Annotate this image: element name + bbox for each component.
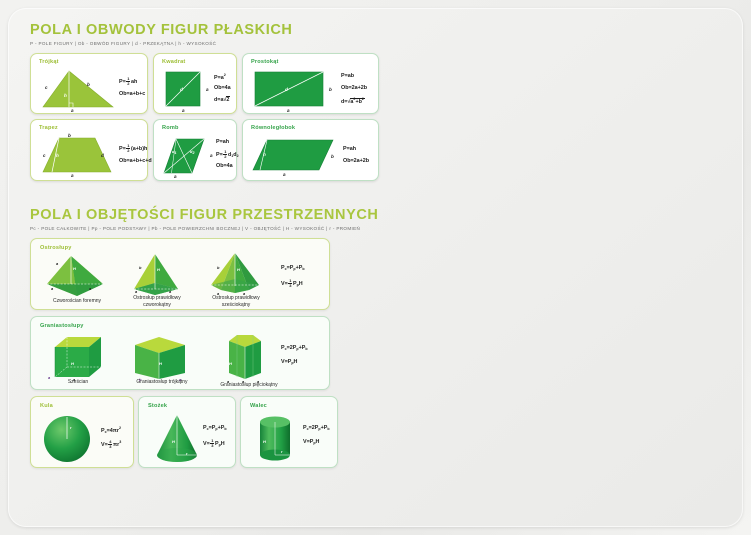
- label-stozek-r: r: [186, 451, 188, 456]
- label-trapez-b: b: [68, 133, 71, 138]
- formula-walec-v: V=PpH: [303, 439, 319, 445]
- caption-graniastoslup-trojkatny: Graniastosłup trójkątny: [123, 379, 201, 386]
- card-romb[interactable]: Romb d1 d2 a a P=ah P=12d1d2: [153, 119, 237, 181]
- card-title-trapez: Trapez: [39, 125, 58, 131]
- figure-cone: [153, 413, 201, 465]
- formula-walec-pc: Pc=2Pp+Pb: [303, 425, 330, 431]
- formula-graniastoslup-pc: Pc=2Pp+Pb: [281, 345, 308, 351]
- label-trapez-d: d: [101, 153, 104, 158]
- label-pyr6-h: H: [237, 267, 240, 272]
- card-trapez[interactable]: Trapez b c h d a P=12(a+b)h Ob=a+b+c+d: [30, 119, 148, 181]
- hex-pyramid-svg: [207, 252, 263, 298]
- label-romb-d1: d1: [172, 149, 176, 155]
- caption-ostroslup-szesciokatny: Ostrosłup prawidłowy sześciokątny: [199, 295, 273, 309]
- card-trojkat[interactable]: Trójkąt c b a h P=12ah Ob=a+b+c: [30, 53, 148, 114]
- figure-triangle: [39, 69, 117, 111]
- label-walec-r: r: [281, 449, 283, 454]
- label-pyr6-b: b: [217, 265, 219, 270]
- formula-kula-v: V=43πr3: [101, 440, 121, 449]
- label-trojkat-a: a: [71, 108, 74, 113]
- label-romb-d2: d2: [190, 149, 194, 155]
- card-title-kwadrat: Kwadrat: [162, 59, 185, 65]
- formula-rownoleglobok-p: P=ah: [343, 146, 356, 152]
- label-tetra-a-top: a: [56, 261, 58, 266]
- pentagonal-prism-svg: [221, 333, 265, 383]
- panel-title-graniastoslupy: Graniastosłupy: [40, 323, 84, 329]
- label-stozek-h: H: [172, 439, 175, 444]
- figure-rectangle: [253, 70, 327, 108]
- panel-kula[interactable]: Kula: [30, 396, 134, 468]
- caption-czworoscian: Czworościan foremny: [37, 298, 117, 305]
- figure-cylinder: [255, 415, 297, 463]
- figure-rhombus: [162, 137, 208, 175]
- label-pyr4-b: b: [139, 265, 141, 270]
- formula-trojkat-ob: Ob=a+b+c: [119, 91, 145, 97]
- label-trapez-a: a: [71, 173, 74, 178]
- formula-stozek-v: V=13PpH: [203, 439, 225, 448]
- label-cube-h: H: [71, 361, 74, 366]
- label-kwadrat-a-bottom: a: [182, 108, 185, 113]
- label-trojkat-b: b: [87, 82, 90, 87]
- formula-trojkat-p: P=12ah: [119, 77, 137, 86]
- label-prostokat-d: d: [285, 87, 288, 92]
- panel-graniastoslupy[interactable]: Graniastosłupy a H: [30, 316, 330, 390]
- triangular-prism-svg: [131, 335, 189, 381]
- label-rownoleglobok-h: h: [263, 152, 266, 157]
- label-prostokat-a: a: [287, 108, 290, 113]
- label-rownoleglobok-b: b: [331, 154, 334, 159]
- formula-kwadrat-d: d=a√2: [214, 97, 230, 103]
- formula-trapez-ob: Ob=a+b+c+d: [119, 158, 152, 164]
- panel-stozek[interactable]: Stożek: [138, 396, 236, 468]
- figure-pentagonal-prism: [221, 333, 265, 383]
- label-romb-a-right: a: [210, 153, 213, 158]
- figure-sphere: [41, 415, 93, 463]
- label-tetra-a-right: a: [89, 286, 91, 291]
- section-solids-title: POLA I OBJĘTOŚCI FIGUR PRZESTRZENNYCH: [30, 207, 720, 223]
- label-trojkat-c: c: [45, 85, 48, 90]
- panel-ostroslupy[interactable]: Ostrosłupy a H a a: [30, 238, 330, 310]
- label-prostokat-b: b: [329, 87, 332, 92]
- flat-figures-grid: Trójkąt c b a h P=12ah Ob=a+b+c: [30, 53, 720, 181]
- figure-trapezoid: [39, 136, 117, 176]
- poster-root: POLA I OBWODY FIGUR PŁASKICH P - POLE FI…: [0, 0, 751, 535]
- trapezoid-svg: [39, 136, 117, 176]
- label-romb-a-bottom: a: [174, 174, 177, 179]
- formula-prostokat-d: d=√a2+b2: [341, 97, 365, 105]
- panel-title-kula: Kula: [40, 403, 53, 409]
- formula-romb-ob: Ob=4a: [216, 163, 233, 169]
- label-prism3-h: H: [159, 361, 162, 366]
- triangle-svg: [39, 69, 117, 111]
- label-tetra-a-left: a: [51, 286, 53, 291]
- cylinder-svg: [255, 415, 297, 463]
- formula-ostroslup-v: V=13PpH: [281, 279, 303, 288]
- section-flat-figures: POLA I OBWODY FIGUR PŁASKICH P - POLE FI…: [30, 22, 720, 181]
- figure-triangular-prism: [131, 335, 189, 381]
- cone-svg: [153, 413, 201, 465]
- formula-rownoleglobok-ob: Ob=2a+2b: [343, 158, 369, 164]
- figure-square: [164, 70, 204, 108]
- label-rownoleglobok-a: a: [283, 172, 286, 177]
- card-title-prostokat: Prostokąt: [251, 59, 279, 65]
- label-kwadrat-a-right: a: [206, 87, 209, 92]
- caption-graniastoslup-pieciokatny: Graniastosłup pięciokątny: [209, 382, 289, 389]
- card-rownoleglobok[interactable]: Równoległobok h b a P=ah Ob=2a+2b: [242, 119, 379, 181]
- label-walec-h: H: [263, 439, 266, 444]
- formula-kwadrat-p: P=a2: [214, 73, 226, 81]
- formula-graniastoslup-v: V=PpH: [281, 359, 297, 365]
- formula-kula-pc: Pc=4πr2: [101, 426, 121, 434]
- formula-ostroslup-pc: Pc=Pp+Pb: [281, 265, 305, 271]
- figure-cube: [51, 335, 105, 381]
- label-kula-r: r: [70, 425, 72, 430]
- formula-romb-p2: P=12d1d2: [216, 150, 239, 159]
- formula-kwadrat-ob: Ob=4a: [214, 85, 231, 91]
- panel-walec[interactable]: Walec: [240, 396, 338, 468]
- section-flat-legend: P - POLE FIGURY | Ob - OBWÓD FIGURY | d …: [30, 41, 720, 46]
- formula-stozek-pc: Pc=Pp+Pb: [203, 425, 227, 431]
- figure-tetrahedron: [45, 255, 109, 297]
- square-svg: [164, 70, 204, 108]
- sphere-svg: [41, 415, 93, 463]
- section-solids-legend: Pc - POLE CAŁKOWITE | Pp - POLE PODSTAWY…: [30, 226, 720, 231]
- card-kwadrat[interactable]: Kwadrat d a a P=a2 Ob=4a d=a√2: [153, 53, 237, 114]
- panel-title-walec: Walec: [250, 403, 267, 409]
- panel-title-ostroslupy: Ostrosłupy: [40, 245, 72, 251]
- label-trapez-c: c: [43, 153, 46, 158]
- tetrahedron-svg: [45, 255, 109, 297]
- rhombus-svg: [162, 137, 208, 175]
- label-prism5-h: H: [229, 361, 232, 366]
- panel-title-stozek: Stożek: [148, 403, 167, 409]
- section-flat-title: POLA I OBWODY FIGUR PŁASKICH: [30, 22, 720, 38]
- caption-ostroslup-czworokatny: Ostrosłup prawidłowy czworokątny: [121, 295, 193, 309]
- poster-sheet: POLA I OBWODY FIGUR PŁASKICH P - POLE FI…: [30, 22, 720, 512]
- label-trojkat-h: h: [64, 93, 67, 98]
- card-prostokat[interactable]: Prostokąt d b a P=ab Ob=2a+2b d=√a2+b2: [242, 53, 379, 114]
- solids-grid: Ostrosłupy a H a a: [30, 238, 720, 513]
- formula-trapez-p: P=12(a+b)h: [119, 144, 147, 153]
- card-title-rownoleglobok: Równoległobok: [251, 125, 295, 131]
- label-pyr4-a-right: a: [169, 289, 171, 294]
- rectangle-svg: [253, 70, 327, 108]
- formula-prostokat-ob: Ob=2a+2b: [341, 85, 367, 91]
- cube-svg: [51, 335, 105, 381]
- label-pyr4-h: H: [157, 267, 160, 272]
- label-kwadrat-d: d: [180, 87, 183, 92]
- formula-prostokat-p: P=ab: [341, 73, 354, 79]
- card-title-romb: Romb: [162, 125, 179, 131]
- label-pyr4-a-left: a: [135, 289, 137, 294]
- caption-szescian: Sześcian: [43, 379, 113, 386]
- label-trapez-h: h: [56, 153, 59, 158]
- section-solids: POLA I OBJĘTOŚCI FIGUR PRZESTRZENNYCH Pc…: [30, 207, 720, 513]
- formula-romb-p1: P=ah: [216, 139, 229, 145]
- label-tetra-h: H: [73, 266, 76, 271]
- figure-hex-pyramid: [207, 252, 263, 298]
- card-title-trojkat: Trójkąt: [39, 59, 59, 65]
